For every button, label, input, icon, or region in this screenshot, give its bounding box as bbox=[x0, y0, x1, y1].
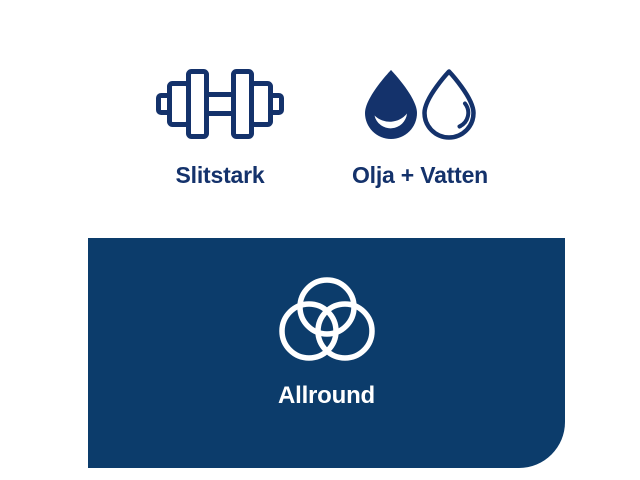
outline-droplet bbox=[425, 72, 474, 138]
feature-oil-water-label: Olja + Vatten bbox=[352, 164, 488, 187]
feature-durable-label: Slitstark bbox=[176, 164, 265, 187]
dumbbell-icon bbox=[155, 66, 285, 142]
feature-oil-water: Olja + Vatten bbox=[325, 66, 515, 187]
allround-panel: Allround bbox=[88, 238, 565, 468]
poster-canvas: Slitstark Olja + Vatten bbox=[0, 0, 640, 480]
two-droplets-icon bbox=[361, 66, 479, 142]
feature-durable: Slitstark bbox=[125, 66, 315, 187]
three-overlapping-circles-icon bbox=[275, 276, 379, 362]
filled-droplet bbox=[365, 70, 417, 139]
allround-label: Allround bbox=[278, 384, 375, 408]
